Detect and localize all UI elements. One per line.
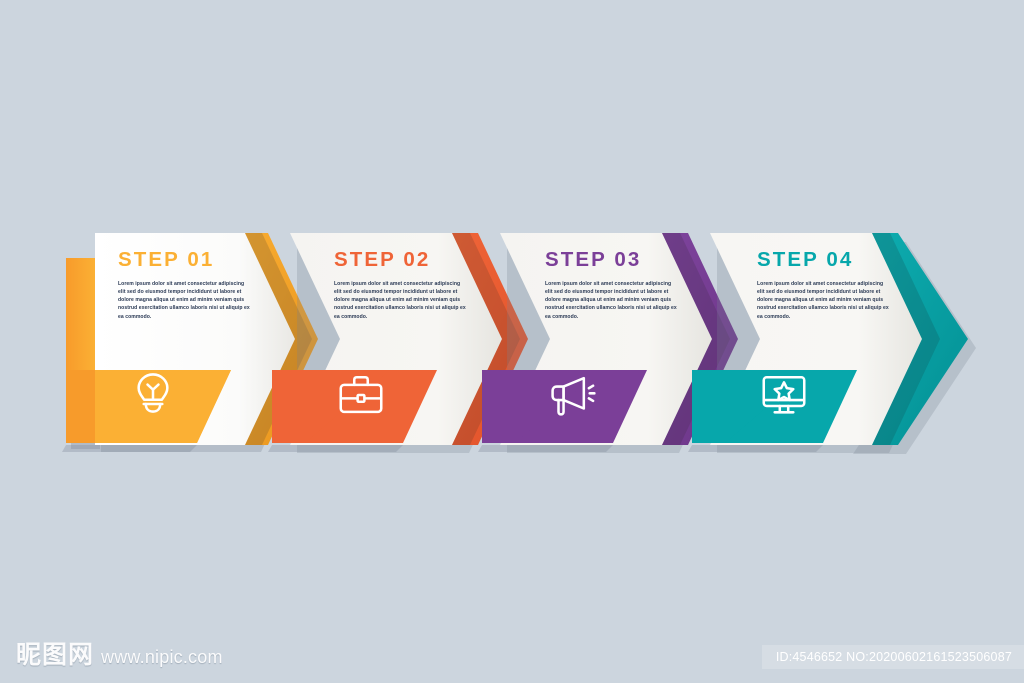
step-card-4[interactable]: STEP 04 Lorem ipsum dolor sit amet conse… [0, 0, 1024, 683]
step-4-shape [0, 0, 1024, 683]
step-4-body: Lorem ipsum dolor sit amet consectetur a… [757, 280, 890, 321]
four-step-arrow-infographic: STEP 01 Lorem ipsum dolor sit amet conse… [0, 0, 1024, 683]
step-4-text: STEP 04 Lorem ipsum dolor sit amet conse… [757, 250, 907, 321]
site-url: www.nipic.com [101, 647, 223, 668]
site-watermark: 昵图网 www.nipic.com [16, 635, 223, 671]
site-name-cn: 昵图网 [16, 635, 94, 671]
monitor-star-icon [757, 368, 811, 422]
step-4-title: STEP 04 [757, 250, 907, 271]
infographic-canvas: STEP 01 Lorem ipsum dolor sit amet conse… [0, 0, 1024, 683]
image-id-watermark: ID:4546652 NO:20200602161523506087 [762, 645, 1024, 669]
